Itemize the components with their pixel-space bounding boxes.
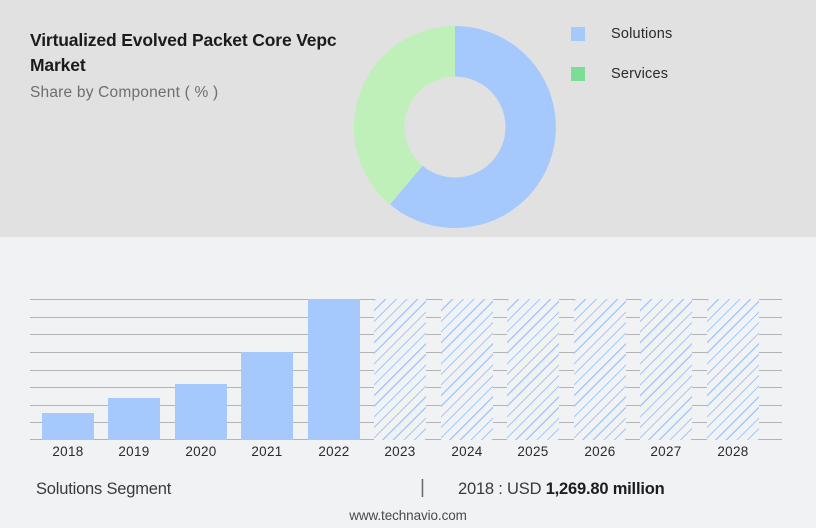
footer-url: www.technavio.com: [0, 508, 816, 523]
square-swatch-icon: [571, 27, 585, 41]
x-axis-labels: 2018 2019 2020 2021 2022 2023 2024 2025 …: [30, 444, 782, 466]
x-axis-label: 2027: [633, 444, 699, 459]
chart-legend: Solutions Services: [571, 14, 801, 94]
bar-2028[interactable]: [707, 299, 759, 440]
x-axis-label: 2026: [567, 444, 633, 459]
bar-2024[interactable]: [441, 299, 493, 440]
bar-2027[interactable]: [640, 299, 692, 440]
footer-value-block: 2018 : USD 1,269.80 million: [458, 480, 664, 499]
page-title: Virtualized Evolved Packet Core Vepc Mar…: [30, 28, 360, 78]
bar-2022[interactable]: [308, 299, 360, 440]
x-axis-label: 2023: [367, 444, 433, 459]
x-axis-label: 2024: [434, 444, 500, 459]
x-axis-label: 2022: [301, 444, 367, 459]
page-subtitle: Share by Component ( % ): [30, 84, 360, 102]
square-swatch-icon: [571, 67, 585, 81]
footer-segment-label: Solutions Segment: [36, 480, 171, 499]
donut-chart: [354, 26, 556, 228]
x-axis-label: 2021: [234, 444, 300, 459]
bar-chart-plot-area: [30, 299, 782, 440]
legend-item-label: Solutions: [611, 26, 672, 42]
x-axis-label: 2020: [168, 444, 234, 459]
x-axis-label: 2018: [35, 444, 101, 459]
donut-chart-svg: [354, 26, 556, 228]
donut-hole: [405, 77, 506, 178]
bar-2025[interactable]: [507, 299, 559, 440]
bar-2020[interactable]: [175, 384, 227, 440]
bar-2018[interactable]: [42, 413, 94, 440]
x-axis-label: 2025: [500, 444, 566, 459]
title-block: Virtualized Evolved Packet Core Vepc Mar…: [30, 28, 360, 102]
x-axis-label: 2019: [101, 444, 167, 459]
x-axis-label: 2028: [700, 444, 766, 459]
bar-2019[interactable]: [108, 398, 160, 440]
legend-item-solutions[interactable]: Solutions: [571, 14, 801, 54]
footer-value: 1,269.80 million: [546, 480, 665, 498]
footer-value-prefix: 2018 : USD: [458, 480, 541, 498]
bar-2026[interactable]: [574, 299, 626, 440]
footer: Solutions Segment | 2018 : USD 1,269.80 …: [0, 472, 816, 528]
bar-2023[interactable]: [374, 299, 426, 440]
legend-item-services[interactable]: Services: [571, 54, 801, 94]
legend-item-label: Services: [611, 66, 668, 82]
bar-2021[interactable]: [241, 352, 293, 440]
header-panel: Virtualized Evolved Packet Core Vepc Mar…: [0, 0, 816, 237]
footer-separator: |: [420, 477, 425, 499]
